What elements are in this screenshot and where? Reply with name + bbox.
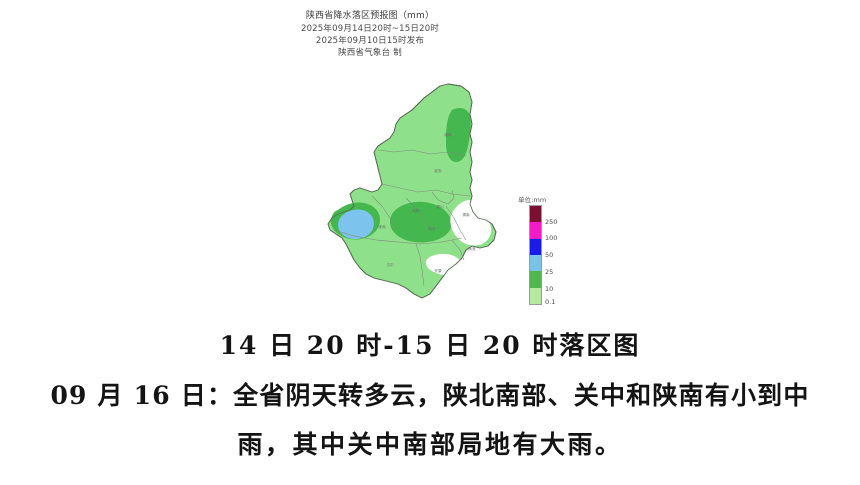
region-label-hanzhong: 汉中 (386, 262, 394, 267)
region-label-tongchuan: 铜川 (436, 204, 444, 209)
region-label-yulin: 榆林 (444, 132, 452, 137)
forecast-line-2: 雨，其中关中南部局地有大雨。 (0, 421, 860, 470)
legend-tick-100: 100 (545, 235, 557, 242)
map-valid-period: 2025年09月14日20时~15日20时 (230, 25, 510, 34)
legend-tick-50: 50 (545, 252, 553, 259)
forecast-body-text: 09 月 16 日：全省阴天转多云，陕北南部、关中和陕南有小到中 雨，其中关中南… (0, 372, 860, 470)
region-label-yanan: 延安 (434, 168, 442, 173)
map-title: 陕西省降水落区预报图（mm） (230, 12, 510, 21)
legend-segment-over-250 (530, 206, 541, 222)
region-label-baoji: 宝鸡 (378, 224, 386, 229)
map-header: 陕西省降水落区预报图（mm） 2025年09月14日20时~15日20时 202… (230, 12, 510, 61)
map-issuer: 陕西省气象台 制 (230, 49, 510, 58)
legend-tick-labels: 250 100 50 25 10 0.1 (545, 205, 579, 305)
figure-caption: 14 日 20 时-15 日 20 时落区图 (0, 326, 860, 362)
legend-tick-10: 10 (545, 286, 553, 293)
legend-color-bar (529, 205, 542, 305)
legend-segment-50-100 (530, 239, 541, 255)
region-label-weinan: 渭南 (462, 212, 470, 217)
legend-segment-25-50 (530, 255, 541, 271)
shaanxi-province-map: 榆林 延安 铜川 渭南 咸阳 西安 宝鸡 汉中 安康 商洛 (320, 80, 530, 320)
legend-segment-100-250 (530, 222, 541, 238)
rainfall-legend: 单位:mm 250 100 50 25 10 0.1 (516, 194, 580, 314)
region-label-shangluo: 商洛 (468, 246, 476, 251)
forecast-figure: 陕西省降水落区预报图（mm） 2025年09月14日20时~15日20时 202… (0, 0, 860, 318)
forecast-line-1: 09 月 16 日：全省阴天转多云，陕北南部、关中和陕南有小到中 (0, 372, 860, 421)
region-label-xian: 西安 (428, 226, 436, 231)
legend-unit-label: 单位:mm (518, 194, 546, 204)
legend-segment-0.1-10 (530, 288, 541, 304)
map-issue-time: 2025年09月10日15时发布 (230, 37, 510, 46)
legend-tick-25: 25 (545, 269, 553, 276)
legend-tick-250: 250 (545, 219, 557, 226)
legend-tick-0.1: 0.1 (545, 299, 555, 306)
region-label-xianyang: 咸阳 (412, 208, 420, 213)
legend-segment-10-25 (530, 271, 541, 287)
region-label-ankang: 安康 (434, 268, 442, 273)
